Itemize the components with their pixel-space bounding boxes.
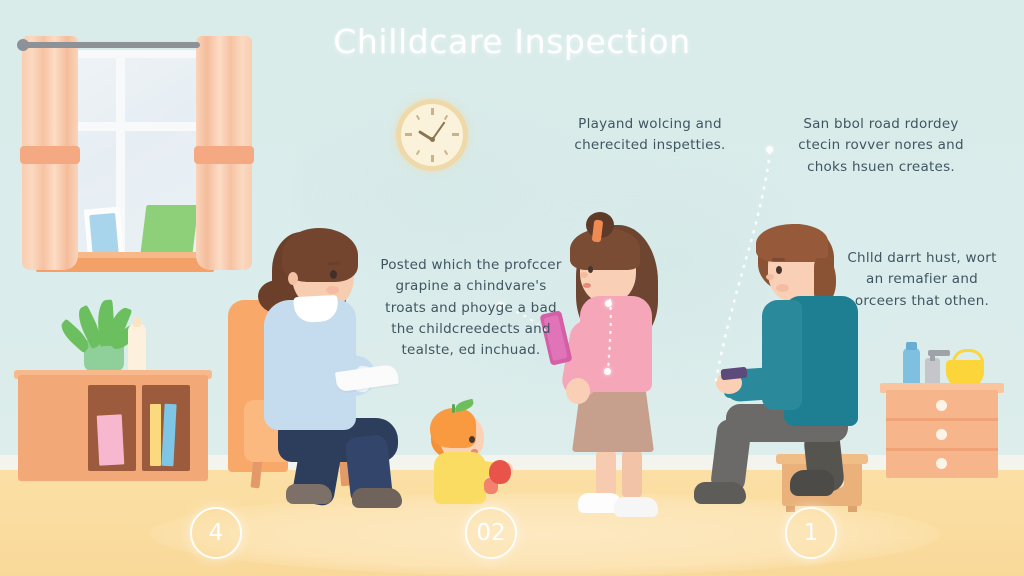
curtain-tieback-right [194,146,254,164]
blue-bottle [903,348,920,388]
caregiver-man-eye [776,266,782,274]
clock-tick-1 [444,115,448,120]
clock-tick-3 [452,133,459,136]
girl-hand [566,378,590,404]
inspector-woman-shoe [286,484,332,504]
book-yellow [150,404,161,466]
annotation-note-2: San bbol road rdordey ctecin rovver nore… [786,114,976,178]
clock-tick-7 [416,150,420,155]
toddler-shirt [434,452,486,504]
toddler-eye [469,436,475,443]
book-pink [97,414,125,465]
toddler-toy-red [489,460,511,484]
curtain-rod [25,42,200,48]
curtain-rod-finial [17,39,29,51]
girl-eye [588,266,593,273]
curtain-tieback-left [20,146,80,164]
girl-sneaker [614,497,658,517]
girl-mouth [583,283,591,288]
caregiver-man-bangs [756,224,828,262]
dresser-knob[interactable] [936,458,947,469]
girl-leg [622,448,642,500]
step-badge-3[interactable]: 1 [785,507,837,559]
step-badge-label: 4 [209,520,224,546]
dresser-knob[interactable] [936,400,947,411]
caregiver-man-cheek [776,284,789,292]
soap-dispenser-pump [928,350,950,356]
annotation-note-1: Playand wolcing and cherecited inspettie… [563,114,737,157]
connector-node [604,368,611,375]
inspector-woman-ear [288,272,298,285]
dresser-drawer-divider [886,418,998,421]
dresser-drawer-divider [886,448,998,451]
clock-center-pin [430,137,435,142]
blue-bottle-cap [906,342,917,350]
step-badge-2[interactable]: 02 [465,507,517,559]
caregiver-man-nose [766,274,774,280]
inspector-woman-shoe [352,488,402,508]
clock-tick-12 [431,108,434,115]
bottle-cap [133,318,141,327]
connector-node [605,300,612,307]
clock-tick-11 [416,115,420,120]
connector-node [766,146,773,153]
caregiver-man-shoe [790,470,834,496]
bottle [128,323,146,373]
clock-tick-9 [405,133,412,136]
inspector-woman-eye [330,270,337,279]
caregiver-man-eyebrow [772,258,785,261]
inspector-woman-cheek [326,286,339,294]
annotation-note-3: Posted which the profccer grapine a chin… [378,255,564,362]
step-badge-label: 1 [804,520,819,546]
annotation-note-4: Chlld darrt hust, wort an remafier and o… [843,248,1001,312]
dresser-knob[interactable] [936,429,947,440]
illustration-canvas: Chilldcare Inspection [0,0,1024,576]
clock-face [401,104,463,166]
clock-tick-5 [444,150,448,155]
wall-clock [396,99,468,171]
step-badge-label: 02 [476,520,505,546]
caregiver-man-shoe [694,482,746,504]
clock-tick-6 [431,155,434,162]
step-badge-1[interactable]: 4 [190,507,242,559]
girl-nose [580,272,588,278]
window-sill-picture-blue [89,213,119,257]
